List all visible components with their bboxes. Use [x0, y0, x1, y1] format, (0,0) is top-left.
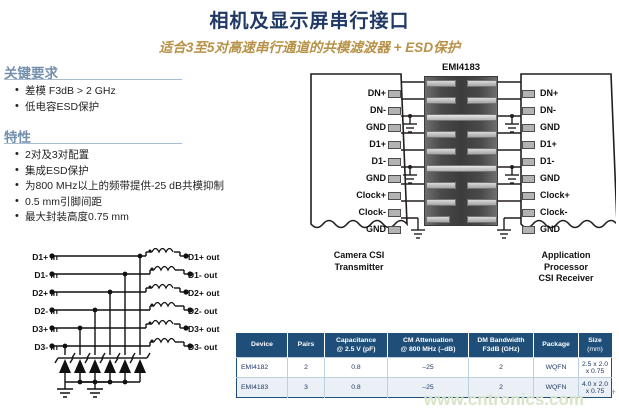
cell-pairs: 2: [288, 358, 325, 378]
pin-label-right: D1+: [540, 139, 557, 149]
col-capacitance: Capacitance@ 2.5 V (pF): [325, 334, 388, 358]
pin-pad-right: [522, 124, 535, 132]
cell-device: EMI4183: [237, 378, 288, 398]
device-comparison-table: Device Pairs Capacitance@ 2.5 V (pF) CM …: [236, 333, 612, 398]
pin-pad-left: [388, 90, 401, 98]
list-item: 差模 F3dB > 2 GHz: [14, 84, 116, 100]
table-row: EMI4182 2 0.8 –25 2 WQFN 2.5 x 2.0 x 0.7…: [237, 358, 612, 378]
circuit-svg: [0, 248, 240, 403]
ic-lead: [467, 97, 497, 104]
application-schematic: EMI4183: [306, 62, 616, 312]
pin-label-left: GND: [320, 173, 386, 183]
pin-pad-right: [522, 158, 535, 166]
cell-package: WQFN: [534, 358, 579, 378]
cell-capacitance: 0.8: [325, 358, 388, 378]
caption-line: Camera CSI: [314, 250, 404, 262]
page-subtitle: 适合3至5对高速串行通道的共模滤波器 + ESD保护: [0, 36, 619, 56]
key-requirements-list: 差模 F3dB > 2 GHz 低电容ESD保护: [14, 84, 116, 115]
pin-pad-left: [388, 124, 401, 132]
pin-label-left: GND: [320, 122, 386, 132]
ic-lead-gnd: [426, 165, 497, 172]
col-package: Package: [534, 334, 579, 358]
ic-lead-gnd: [426, 114, 497, 121]
cell-cm-attenuation: –25: [388, 358, 469, 378]
section-rule-2: [4, 143, 182, 144]
cell-dm-bandwidth: 2: [469, 358, 534, 378]
ic-lead: [467, 199, 497, 206]
right-block-caption: Application Processor CSI Receiver: [520, 250, 612, 285]
col-size: Size(mm): [579, 334, 612, 358]
pin-label-left: D1-: [320, 156, 386, 166]
pin-label-left: DN+: [320, 88, 386, 98]
ic-package-body: [424, 76, 498, 226]
list-item: 0.5 mm引脚间距: [14, 195, 224, 211]
pin-pad-right: [522, 175, 535, 183]
section-rule-1: [4, 79, 182, 80]
pin-pad-left: [388, 107, 401, 115]
ic-lead: [467, 131, 497, 138]
pin-label-right: Clock-: [540, 207, 568, 217]
slide-root: 相机及显示屏串行接口 适合3至5对高速串行通道的共模滤波器 + ESD保护 关键…: [0, 0, 619, 415]
pin-label-right: Clock+: [540, 190, 570, 200]
list-item: 最大封装高度0.75 mm: [14, 210, 224, 226]
plus-marker: +: [611, 387, 616, 397]
ic-lead: [467, 80, 497, 87]
pin-label-left: Clock-: [320, 207, 386, 217]
pin-label-left: DN-: [320, 105, 386, 115]
pin-label-right: DN-: [540, 105, 556, 115]
list-item: 集成ESD保护: [14, 164, 224, 180]
watermark-text: www.cntronics.com: [424, 390, 584, 410]
pin-pad-left: [388, 158, 401, 166]
pin-pad-right: [522, 90, 535, 98]
cell-capacitance: 0.8: [325, 378, 388, 398]
pin-pad-right: [522, 107, 535, 115]
caption-line: Transmitter: [314, 262, 404, 274]
pin-label-right: DN+: [540, 88, 558, 98]
pin-label-right: GND: [540, 122, 560, 132]
caption-line: Processor: [520, 262, 612, 274]
pin-label-left: D1+: [320, 139, 386, 149]
ic-lead: [426, 148, 456, 155]
ic-lead: [467, 216, 497, 223]
col-dm-bandwidth: DM BandwidthF3dB (GHz): [469, 334, 534, 358]
caption-line: Application: [520, 250, 612, 262]
cell-size: 2.5 x 2.0 x 0.75: [579, 358, 612, 378]
pin-pad-right: [522, 226, 535, 234]
filter-circuit-diagram: D1+ in D1- in D2+ in D2- in D3+ in D3- i…: [0, 248, 240, 403]
ic-lead: [426, 182, 456, 189]
ic-lead: [426, 97, 456, 104]
left-block-caption: Camera CSI Transmitter: [314, 250, 404, 273]
pin-label-right: GND: [540, 224, 560, 234]
ic-lead: [426, 199, 456, 206]
pin-pad-left: [388, 175, 401, 183]
pin-pad-right: [522, 141, 535, 149]
page-title: 相机及显示屏串行接口: [0, 6, 619, 33]
col-device: Device: [237, 334, 288, 358]
pin-pad-right: [522, 209, 535, 217]
col-pairs: Pairs: [288, 334, 325, 358]
ic-lead: [426, 80, 456, 87]
ic-lead: [426, 216, 450, 223]
list-item: 2对及3对配置: [14, 148, 224, 164]
ic-lead: [426, 131, 456, 138]
col-cm-attenuation: CM Attenuation@ 800 MHz (–dB): [388, 334, 469, 358]
pin-label-left: Clock+: [320, 190, 386, 200]
cell-device: EMI4182: [237, 358, 288, 378]
caption-line: CSI Receiver: [520, 273, 612, 285]
pin-label-right: D1-: [540, 156, 555, 166]
pin-pad-left: [388, 192, 401, 200]
ic-lead: [467, 182, 497, 189]
table-header-row: Device Pairs Capacitance@ 2.5 V (pF) CM …: [237, 334, 612, 358]
ic-lead: [467, 148, 497, 155]
pin-pad-left: [388, 141, 401, 149]
features-list: 2对及3对配置 集成ESD保护 为800 MHz以上的频带提供-25 dB共模抑…: [14, 148, 224, 226]
list-item: 为800 MHz以上的频带提供-25 dB共模抑制: [14, 179, 224, 195]
pin-label-left: GND: [320, 224, 386, 234]
pin-label-right: GND: [540, 173, 560, 183]
cell-pairs: 3: [288, 378, 325, 398]
list-item: 低电容ESD保护: [14, 100, 116, 116]
pin-pad-left: [388, 226, 401, 234]
pin-pad-right: [522, 192, 535, 200]
pin-pad-left: [388, 209, 401, 217]
